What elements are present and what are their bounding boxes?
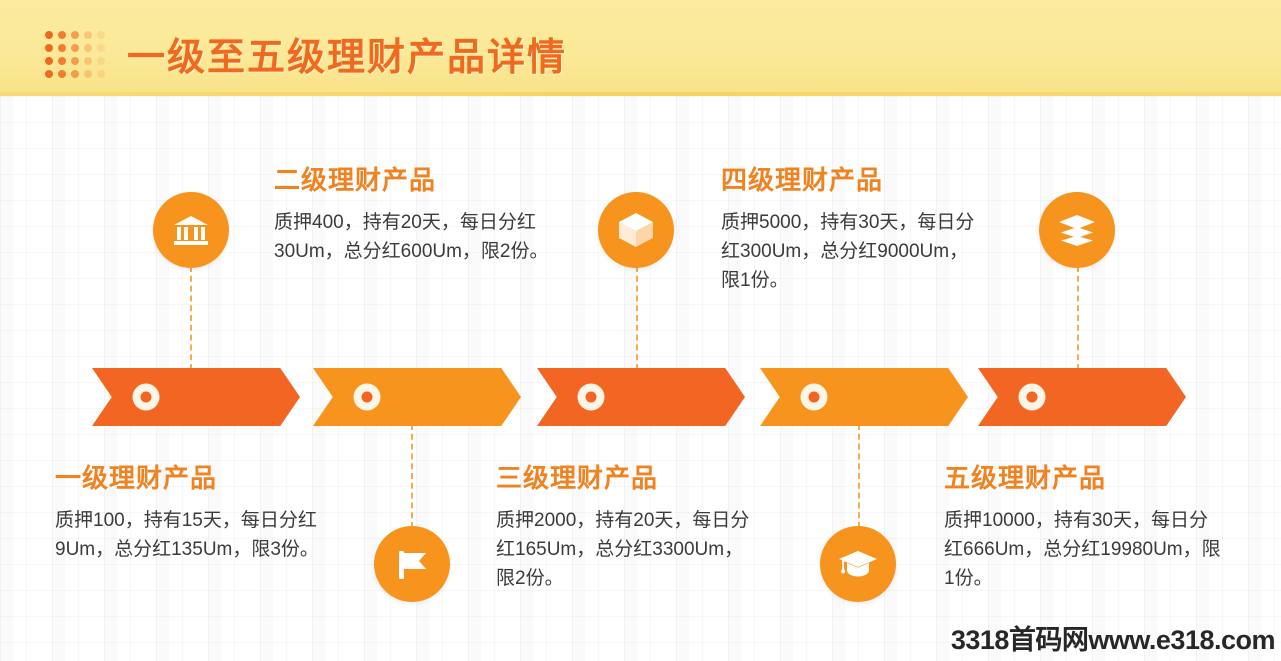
chevron-level-2[interactable] <box>313 368 521 426</box>
level-description-4: 质押5000，持有30天，每日分红300Um，总分红9000Um，限1份。 <box>721 209 979 296</box>
dot-matrix-decoration <box>42 28 107 80</box>
level-description-5: 质押10000，持有30天，每日分红666Um，总分红19980Um，限1份。 <box>944 507 1222 594</box>
connector-line-3 <box>636 266 638 370</box>
chevron-marker-2 <box>354 384 381 411</box>
level-title-5: 五级理财产品 <box>944 458 1222 495</box>
flag-icon <box>392 544 432 584</box>
icon-badge-level-2[interactable] <box>374 526 450 602</box>
level-description-3: 质押2000，持有20天，每日分红165Um，总分红3300Um，限2份。 <box>496 507 758 594</box>
chevron-marker-5 <box>1019 384 1046 411</box>
level-description-2: 质押400，持有20天，每日分红30Um，总分红600Um，限2份。 <box>274 209 552 267</box>
chevron-level-1[interactable] <box>92 368 300 426</box>
connector-line-2 <box>411 424 413 528</box>
bank-icon <box>171 210 211 250</box>
level-block-4: 四级理财产品 质押5000，持有30天，每日分红300Um，总分红9000Um，… <box>721 160 979 296</box>
layers-icon <box>1057 210 1097 250</box>
level-block-5: 五级理财产品 质押10000，持有30天，每日分红666Um，总分红19980U… <box>944 458 1222 594</box>
icon-badge-level-5[interactable] <box>1039 192 1115 268</box>
chevron-level-5[interactable] <box>978 368 1186 426</box>
graduation-cap-icon <box>837 543 879 585</box>
connector-line-5 <box>1077 266 1079 370</box>
icon-badge-level-4[interactable] <box>820 526 896 602</box>
level-title-2: 二级理财产品 <box>274 160 552 197</box>
chevron-level-4[interactable] <box>760 368 968 426</box>
header-divider <box>0 92 1281 96</box>
level-block-1: 一级理财产品 质押100，持有15天，每日分红9Um，总分红135Um，限3份。 <box>55 458 340 565</box>
infographic-page: 一级至五级理财产品详情 <box>0 0 1281 661</box>
level-title-1: 一级理财产品 <box>55 458 340 495</box>
connector-line-1 <box>190 266 192 370</box>
chevron-marker-3 <box>578 384 605 411</box>
level-block-3: 三级理财产品 质押2000，持有20天，每日分红165Um，总分红3300Um，… <box>496 458 758 594</box>
level-description-1: 质押100，持有15天，每日分红9Um，总分红135Um，限3份。 <box>55 507 340 565</box>
site-watermark: 3318首码网www.e318.com <box>951 618 1275 657</box>
chevron-level-3[interactable] <box>537 368 745 426</box>
header-banner: 一级至五级理财产品详情 <box>0 0 1281 96</box>
icon-badge-level-1[interactable] <box>153 192 229 268</box>
level-title-4: 四级理财产品 <box>721 160 979 197</box>
level-title-3: 三级理财产品 <box>496 458 758 495</box>
connector-line-4 <box>858 424 860 528</box>
cube-icon <box>615 209 657 251</box>
page-title: 一级至五级理财产品详情 <box>127 26 567 81</box>
chevron-timeline <box>0 368 1281 426</box>
icon-badge-level-3[interactable] <box>598 192 674 268</box>
chevron-marker-4 <box>801 384 828 411</box>
chevron-marker-1 <box>133 384 160 411</box>
level-block-2: 二级理财产品 质押400，持有20天，每日分红30Um，总分红600Um，限2份… <box>274 160 552 267</box>
